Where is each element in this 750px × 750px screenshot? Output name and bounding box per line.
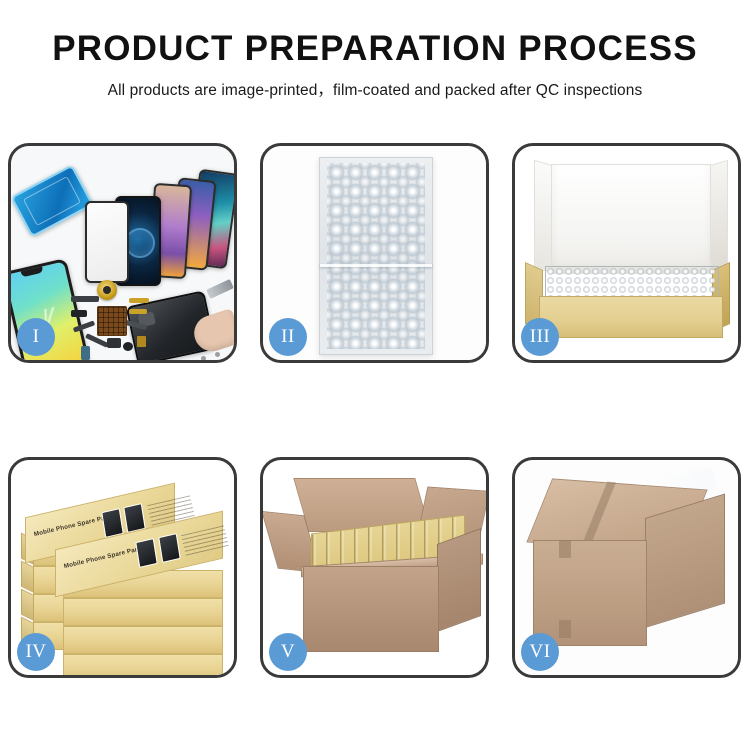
page-header: PRODUCT PREPARATION PROCESS All products… [0, 0, 750, 100]
step-badge-4: IV [17, 633, 55, 671]
process-step-panel-1: I [8, 143, 237, 363]
step-badge-2: II [269, 318, 307, 356]
carton-side-face [437, 528, 481, 632]
component-icon [107, 338, 121, 348]
chip-board-icon [97, 306, 127, 336]
flex-cable-icon [129, 298, 149, 303]
box-print-screen-image [135, 538, 158, 568]
process-step-panel-6: VI [512, 457, 741, 678]
page-subtitle: All products are image-printed，film-coat… [0, 78, 750, 100]
carton-front-face [303, 566, 439, 652]
retail-box-edge [63, 598, 223, 626]
page-title: PRODUCT PREPARATION PROCESS [0, 30, 750, 68]
flex-cable-icon [129, 309, 147, 314]
box-lid-icon [551, 164, 711, 274]
process-step-grid: I II III [8, 143, 742, 678]
box-side-face [21, 561, 34, 593]
speaker-coil-icon [97, 280, 117, 300]
flex-cable-icon [71, 296, 99, 302]
carton-tape-mark [559, 540, 571, 558]
screw-icon [215, 352, 220, 357]
process-step-panel-4: Mobile Phone Spare Parts Mobile Phone Sp… [8, 457, 237, 678]
box-front-wall [539, 296, 723, 338]
screw-icon [201, 356, 206, 360]
component-icon [137, 336, 146, 347]
box-side-face [21, 589, 34, 621]
step-badge-6: VI [521, 633, 559, 671]
component-icon [81, 346, 90, 360]
retail-box-edge [63, 626, 223, 654]
retail-box-edge [63, 654, 223, 675]
bubble-pattern-offset-icon [327, 163, 425, 349]
process-step-panel-5: V [260, 457, 489, 678]
step-badge-1: I [17, 318, 55, 356]
carton-front-face [533, 540, 647, 646]
carton-tape-mark [559, 620, 571, 638]
bubble-wrap-pouch-icon [319, 157, 433, 355]
step-badge-5: V [269, 633, 307, 671]
component-icon [71, 310, 87, 317]
process-step-panel-3: III [512, 143, 741, 363]
component-icon [123, 342, 133, 351]
step-badge-3: III [521, 318, 559, 356]
phone-white-glass-icon [85, 201, 129, 283]
process-step-panel-2: II [260, 143, 489, 363]
box-print-screen-image [158, 533, 181, 563]
pouch-seam [320, 264, 432, 267]
